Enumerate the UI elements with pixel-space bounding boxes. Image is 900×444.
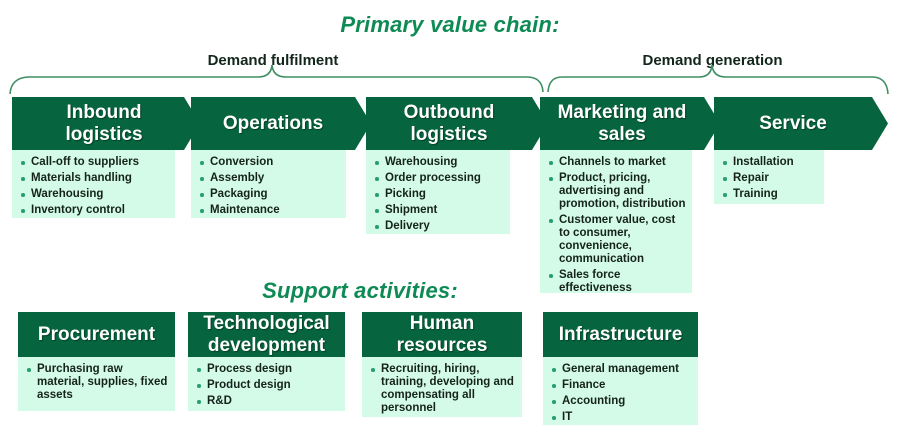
primary-column-marketing-and-sales[interactable]: Marketing and sales Channels to market P…: [540, 97, 720, 293]
bullet-list-marketing-and-sales: Channels to market Product, pricing, adv…: [548, 156, 686, 295]
brace-group: [0, 62, 900, 96]
primary-column-service[interactable]: Service Installation Repair Training: [714, 97, 888, 204]
body-inbound-logistics: Call-off to suppliers Materials handling…: [12, 150, 175, 218]
chevron-label: Outbound logistics: [366, 97, 532, 150]
brace-demand-generation: [548, 65, 888, 94]
bullet-list-human-resources: Recruiting, hiring, training, developing…: [370, 363, 516, 415]
body-marketing-and-sales: Channels to market Product, pricing, adv…: [540, 150, 692, 293]
chevron-header-operations[interactable]: Operations: [191, 97, 371, 150]
list-item: Warehousing: [20, 188, 169, 201]
list-item: Conversion: [199, 156, 340, 169]
chevron-header-service[interactable]: Service: [714, 97, 888, 150]
list-item: Accounting: [551, 395, 692, 408]
list-item: Purchasing raw material, supplies, fixed…: [26, 363, 169, 402]
chevron-label: Marketing and sales: [540, 97, 704, 150]
bullet-list-infrastructure: General management Finance Accounting IT: [551, 363, 692, 424]
bullet-list-operations: Conversion Assembly Packaging Maintenanc…: [199, 156, 340, 217]
bullet-list-outbound-logistics: Warehousing Order processing Picking Shi…: [374, 156, 504, 233]
support-header-label: Infrastructure: [559, 324, 683, 346]
list-item: Inventory control: [20, 204, 169, 217]
list-item: IT: [551, 411, 692, 424]
support-header-label: Procurement: [38, 324, 155, 346]
list-item: Maintenance: [199, 204, 340, 217]
body-technological-development: Process design Product design R&D: [188, 357, 345, 411]
value-chain-diagram: Primary value chain: Demand fulfilment D…: [0, 0, 900, 444]
body-outbound-logistics: Warehousing Order processing Picking Shi…: [366, 150, 510, 234]
list-item: Training: [722, 188, 818, 201]
body-human-resources: Recruiting, hiring, training, developing…: [362, 357, 522, 417]
list-item: Shipment: [374, 204, 504, 217]
list-item: Process design: [196, 363, 339, 376]
brace-demand-fulfilment: [10, 65, 543, 94]
body-procurement: Purchasing raw material, supplies, fixed…: [18, 357, 175, 411]
body-infrastructure: General management Finance Accounting IT: [543, 357, 698, 425]
body-operations: Conversion Assembly Packaging Maintenanc…: [191, 150, 346, 218]
chevron-header-marketing-and-sales[interactable]: Marketing and sales: [540, 97, 720, 150]
support-header-human-resources[interactable]: Human resources: [362, 312, 522, 357]
primary-column-operations[interactable]: Operations Conversion Assembly Packaging…: [191, 97, 371, 218]
list-item: Delivery: [374, 220, 504, 233]
list-item: Call-off to suppliers: [20, 156, 169, 169]
support-header-label: Technological development: [192, 313, 341, 357]
bullet-list-inbound-logistics: Call-off to suppliers Materials handling…: [20, 156, 169, 217]
list-item: Order processing: [374, 172, 504, 185]
support-header-label: Human resources: [366, 313, 518, 357]
chevron-label: Inbound logistics: [24, 97, 184, 150]
list-item: General management: [551, 363, 692, 376]
list-item: Recruiting, hiring, training, developing…: [370, 363, 516, 415]
support-column-procurement[interactable]: Procurement Purchasing raw material, sup…: [18, 312, 175, 411]
chevron-header-outbound-logistics[interactable]: Outbound logistics: [366, 97, 548, 150]
list-item: Materials handling: [20, 172, 169, 185]
support-column-technological-development[interactable]: Technological development Process design…: [188, 312, 345, 411]
list-item: Product design: [196, 379, 339, 392]
support-activities-title: Support activities:: [0, 278, 720, 304]
chevron-label: Operations: [191, 97, 355, 150]
bullet-list-procurement: Purchasing raw material, supplies, fixed…: [26, 363, 169, 402]
list-item: Repair: [722, 172, 818, 185]
list-item: Finance: [551, 379, 692, 392]
list-item: Warehousing: [374, 156, 504, 169]
bullet-list-service: Installation Repair Training: [722, 156, 818, 201]
list-item: Assembly: [199, 172, 340, 185]
body-service: Installation Repair Training: [714, 150, 824, 204]
chevron-label: Service: [714, 97, 872, 150]
primary-column-outbound-logistics[interactable]: Outbound logistics Warehousing Order pro…: [366, 97, 548, 234]
primary-value-chain-title: Primary value chain:: [0, 12, 900, 38]
support-header-procurement[interactable]: Procurement: [18, 312, 175, 357]
chevron-header-inbound-logistics[interactable]: Inbound logistics: [12, 97, 200, 150]
support-column-infrastructure[interactable]: Infrastructure General management Financ…: [543, 312, 698, 425]
bullet-list-technological-development: Process design Product design R&D: [196, 363, 339, 408]
list-item: Installation: [722, 156, 818, 169]
list-item: Packaging: [199, 188, 340, 201]
support-column-human-resources[interactable]: Human resources Recruiting, hiring, trai…: [362, 312, 522, 417]
primary-column-inbound-logistics[interactable]: Inbound logistics Call-off to suppliers …: [12, 97, 200, 218]
list-item: R&D: [196, 395, 339, 408]
list-item: Product, pricing, advertising and promot…: [548, 172, 686, 211]
list-item: Customer value, cost to consumer, conven…: [548, 214, 686, 266]
support-header-infrastructure[interactable]: Infrastructure: [543, 312, 698, 357]
support-header-technological-development[interactable]: Technological development: [188, 312, 345, 357]
list-item: Channels to market: [548, 156, 686, 169]
list-item: Picking: [374, 188, 504, 201]
